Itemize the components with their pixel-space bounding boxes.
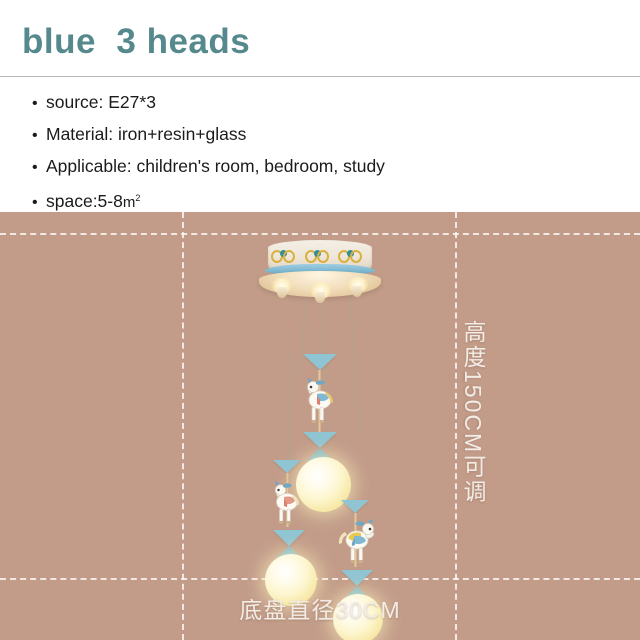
- spec-text: source: E27*3: [46, 92, 156, 112]
- bullet-icon: •: [32, 157, 46, 179]
- header-divider: [0, 76, 640, 77]
- product-detail-page: blue 3 heads •source: E27*3 •Material: i…: [0, 0, 640, 640]
- bullet-icon: •: [32, 192, 46, 214]
- pendant-cone-top: [273, 460, 301, 473]
- grid-line-horizontal-top: [0, 233, 640, 235]
- crown-motif-icon: [338, 248, 362, 261]
- carousel-horse-figurine: [300, 370, 342, 428]
- product-photo: 高度150CM可调 底盘直径30CM: [0, 212, 640, 640]
- list-item: •space:5-8m2: [32, 187, 140, 214]
- crown-motif-icon: [271, 248, 295, 261]
- pendant-cone-lower: [303, 432, 337, 448]
- area-unit: m2: [123, 194, 141, 211]
- pendant-cone-lower: [273, 530, 305, 546]
- spec-list: •source: E27*3 •Material: iron+resin+gla…: [0, 80, 640, 212]
- pendant-cone-top: [303, 354, 337, 370]
- base-diameter-label: 底盘直径30CM: [0, 591, 640, 625]
- unit-exponent: 2: [135, 193, 140, 203]
- height-dimension-label: 高度150CM可调: [456, 320, 490, 504]
- ceiling-canopy: [255, 240, 385, 302]
- unit-base: m: [123, 194, 136, 211]
- canopy-socket: [352, 286, 362, 297]
- bullet-icon: •: [32, 93, 46, 115]
- spec-text: Material: iron+resin+glass: [46, 124, 246, 144]
- bullet-icon: •: [32, 125, 46, 147]
- list-item: •Applicable: children's room, bedroom, s…: [32, 155, 385, 179]
- canopy-socket: [315, 292, 325, 303]
- list-item: •source: E27*3: [32, 91, 156, 115]
- crown-motif-icon: [305, 248, 329, 261]
- spec-text: space:5-8: [46, 191, 123, 211]
- suspension-cord: [349, 294, 360, 434]
- carousel-horse-figurine: [333, 512, 379, 568]
- pendant-cone-lower: [341, 570, 373, 586]
- header: blue 3 heads: [0, 0, 640, 78]
- suspension-cord: [287, 352, 293, 472]
- carousel-horse-figurine: [268, 474, 308, 528]
- grid-line-vertical-left: [182, 212, 184, 640]
- canopy-socket: [277, 287, 287, 298]
- spec-text: Applicable: children's room, bedroom, st…: [46, 156, 385, 176]
- list-item: •Material: iron+resin+glass: [32, 123, 246, 147]
- grid-line-horizontal-bottom: [0, 578, 640, 580]
- page-title: blue 3 heads: [22, 21, 250, 63]
